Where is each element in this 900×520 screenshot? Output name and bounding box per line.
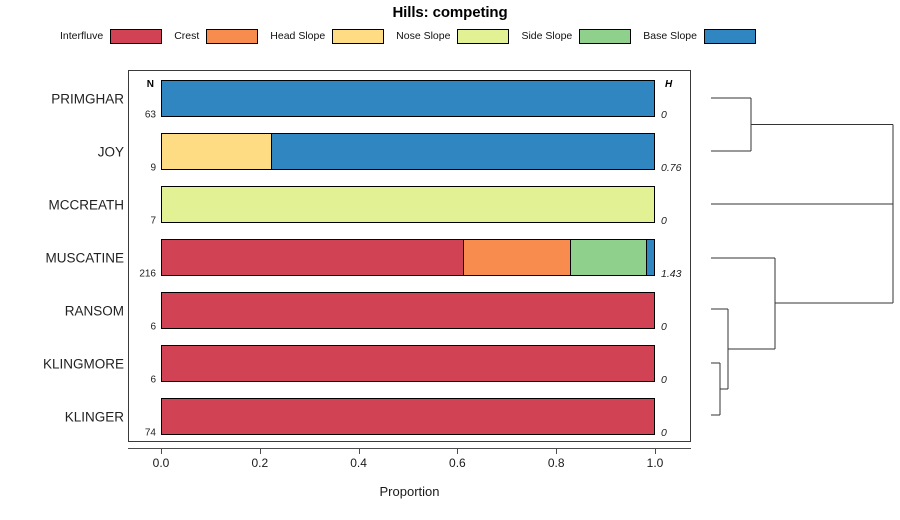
- legend-entry: Crest: [174, 29, 258, 44]
- legend-swatch: [332, 29, 384, 44]
- legend: InterfluveCrestHead SlopeNose SlopeSide …: [60, 26, 820, 46]
- dendrogram-svg: [700, 60, 900, 460]
- h-value: 0: [661, 427, 667, 439]
- legend-entry: Head Slope: [270, 29, 384, 44]
- h-value: 0.76: [661, 162, 681, 174]
- n-value: 6: [150, 374, 156, 385]
- n-value: 74: [145, 427, 156, 438]
- category-label: MCCREATH: [49, 197, 125, 212]
- legend-swatch: [110, 29, 162, 44]
- x-axis-tick: [260, 448, 261, 454]
- h-value: 1.43: [661, 268, 681, 280]
- legend-entry: Side Slope: [521, 29, 631, 44]
- h-value: 0: [661, 109, 667, 121]
- x-axis-tick-label: 0.2: [251, 456, 268, 470]
- legend-label: Crest: [174, 30, 199, 42]
- h-value: 0: [661, 215, 667, 227]
- n-value: 63: [145, 109, 156, 120]
- category-label: KLINGER: [65, 409, 124, 424]
- n-value: 6: [150, 321, 156, 332]
- legend-swatch: [704, 29, 756, 44]
- x-axis-tick-label: 0.0: [153, 456, 170, 470]
- x-axis-tick: [655, 448, 656, 454]
- h-column: H 00.7601.43000: [657, 70, 691, 442]
- legend-entry: Base Slope: [643, 29, 756, 44]
- legend-label: Base Slope: [643, 30, 697, 42]
- legend-entry: Nose Slope: [396, 29, 509, 44]
- h-value: 0: [661, 321, 667, 333]
- legend-label: Head Slope: [270, 30, 325, 42]
- chart-root: Hills: competing InterfluveCrestHead Slo…: [0, 0, 900, 520]
- category-label: KLINGMORE: [43, 356, 124, 371]
- x-axis-tick: [359, 448, 360, 454]
- n-value: 216: [139, 268, 156, 279]
- category-label: PRIMGHAR: [51, 91, 124, 106]
- x-axis-line: [128, 448, 691, 449]
- legend-swatch: [579, 29, 631, 44]
- category-label: JOY: [98, 144, 124, 159]
- h-column-header: H: [665, 79, 672, 90]
- legend-swatch: [457, 29, 509, 44]
- plot-panel: [128, 70, 691, 442]
- n-column-header: N: [147, 79, 154, 90]
- n-value: 7: [150, 215, 156, 226]
- x-axis-tick-label: 0.6: [449, 456, 466, 470]
- legend-label: Interfluve: [60, 30, 103, 42]
- x-axis-title: Proportion: [128, 484, 691, 499]
- n-value: 9: [150, 162, 156, 173]
- n-column: N 63972166674: [128, 70, 158, 442]
- category-label: MUSCATINE: [45, 250, 124, 265]
- category-axis-labels: PRIMGHARJOYMCCREATHMUSCATINERANSOMKLINGM…: [0, 70, 124, 442]
- h-value: 0: [661, 374, 667, 386]
- legend-label: Nose Slope: [396, 30, 450, 42]
- legend-swatch: [206, 29, 258, 44]
- x-axis-tick-label: 0.4: [350, 456, 367, 470]
- x-axis-tick-label: 0.8: [548, 456, 565, 470]
- x-axis-tick-label: 1.0: [647, 456, 664, 470]
- chart-title: Hills: competing: [0, 4, 900, 21]
- x-axis-tick: [556, 448, 557, 454]
- dendrogram: [700, 60, 900, 460]
- x-axis-tick: [161, 448, 162, 454]
- x-axis-tick: [457, 448, 458, 454]
- category-label: RANSOM: [65, 303, 124, 318]
- legend-entry: Interfluve: [60, 29, 162, 44]
- legend-label: Side Slope: [521, 30, 572, 42]
